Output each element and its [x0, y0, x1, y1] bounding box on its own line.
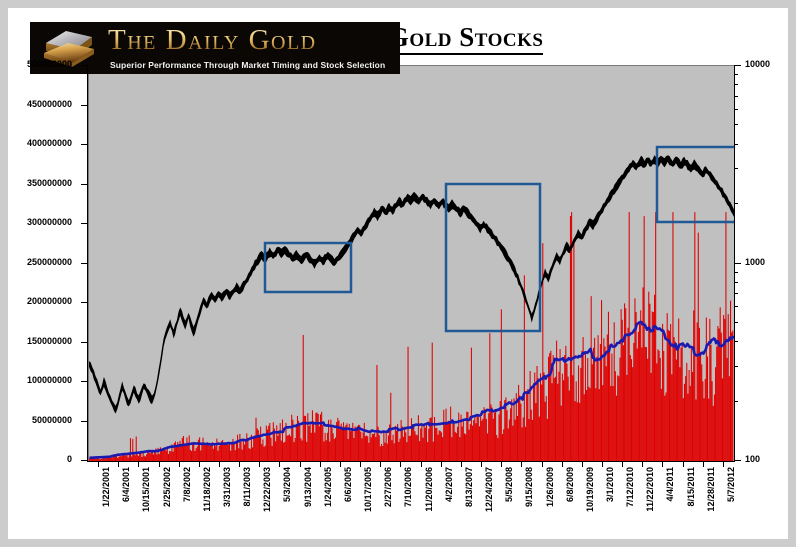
- left-axis-tick-label: 150000000: [27, 337, 72, 346]
- x-axis-tick-label: 3/31/2003: [223, 467, 232, 507]
- logo-tagline: Superior Performance Through Market Timi…: [110, 60, 385, 70]
- x-axis-tick: [340, 461, 341, 467]
- left-axis-tick-label: 300000000: [27, 218, 72, 227]
- right-axis-tick: [735, 460, 741, 461]
- x-axis-tick-label: 5/5/2008: [505, 467, 514, 502]
- left-axis-tick: [81, 184, 87, 185]
- x-axis-tick-label: 8/15/2011: [687, 467, 696, 507]
- x-axis-tick: [98, 461, 99, 467]
- right-axis-minor-tick: [735, 74, 738, 75]
- right-axis-minor-tick: [735, 322, 738, 323]
- left-axis-tick: [81, 105, 87, 106]
- chart-canvas: [89, 66, 734, 461]
- left-axis-tick-label: 50000000: [32, 416, 72, 425]
- left-axis-tick: [81, 421, 87, 422]
- right-axis-tick-label: 100: [745, 455, 760, 464]
- x-axis-tick: [118, 461, 119, 467]
- x-axis-tick-label: 7/12/2010: [626, 467, 635, 507]
- x-axis-tick-label: 6/6/2005: [344, 467, 353, 502]
- x-axis-tick-label: 1/24/2005: [324, 467, 333, 507]
- bottom-axis-line: [87, 461, 735, 462]
- left-axis-tick: [81, 460, 87, 461]
- left-axis-tick-label: 100000000: [27, 376, 72, 385]
- x-axis-tick-label: 9/15/2008: [525, 467, 534, 507]
- x-axis-tick: [481, 461, 482, 467]
- x-axis-tick-label: 6/8/2009: [566, 467, 575, 502]
- x-axis-tick: [602, 461, 603, 467]
- left-axis-tick-label: 0: [67, 455, 72, 464]
- right-axis-minor-tick: [735, 203, 738, 204]
- chart-page: Small Cap Gold Stocks: [8, 8, 788, 539]
- x-axis-tick-label: 4/2/2007: [445, 467, 454, 502]
- consolidation-box-2: [446, 184, 540, 331]
- left-axis-tick: [81, 223, 87, 224]
- volume-bar: [89, 212, 733, 461]
- x-axis-tick: [501, 461, 502, 467]
- x-axis-tick-label: 5/7/2012: [727, 467, 736, 502]
- x-axis-tick-label: 7/10/2006: [404, 467, 413, 507]
- x-axis-tick-label: 12/24/2007: [485, 467, 494, 512]
- x-axis-tick-label: 1/26/2009: [546, 467, 555, 507]
- x-axis-tick: [400, 461, 401, 467]
- x-axis-tick-label: 3/1/2010: [606, 467, 615, 502]
- x-axis-tick-label: 9/13/2004: [304, 467, 313, 507]
- x-axis-tick: [279, 461, 280, 467]
- x-axis-tick: [360, 461, 361, 467]
- left-axis-tick-label: 500000000: [27, 60, 72, 69]
- x-axis-tick-label: 1/22/2001: [102, 467, 111, 507]
- right-axis-tick: [735, 263, 741, 264]
- x-axis-tick: [542, 461, 543, 467]
- x-axis-tick: [219, 461, 220, 467]
- daily-gold-logo: The Daily Gold Superior Performance Thro…: [30, 22, 400, 74]
- x-axis-tick: [441, 461, 442, 467]
- x-axis-tick-label: 2/25/2002: [163, 467, 172, 507]
- left-axis-tick-label: 250000000: [27, 258, 72, 267]
- right-axis-minor-tick: [735, 272, 738, 273]
- right-axis-minor-tick: [735, 366, 738, 367]
- x-axis-tick-label: 6/4/2001: [122, 467, 131, 502]
- x-axis-tick: [622, 461, 623, 467]
- x-axis-tick-label: 2/27/2006: [384, 467, 393, 507]
- x-axis-tick-label: 10/19/2009: [586, 467, 595, 512]
- x-axis-tick: [179, 461, 180, 467]
- x-axis-tick: [642, 461, 643, 467]
- right-axis-tick-label: 1000: [745, 258, 765, 267]
- x-axis-tick-label: 11/22/2010: [646, 467, 655, 512]
- right-axis-minor-tick: [735, 96, 738, 97]
- x-axis-tick-label: 10/17/2005: [364, 467, 373, 512]
- x-axis-tick-label: 5/3/2004: [283, 467, 292, 502]
- left-axis-tick: [81, 342, 87, 343]
- left-axis-tick-label: 400000000: [27, 139, 72, 148]
- x-axis-tick-label: 10/15/2001: [142, 467, 151, 512]
- x-axis-tick: [562, 461, 563, 467]
- x-axis-tick-label: 8/13/2007: [465, 467, 474, 507]
- left-axis-tick-label: 200000000: [27, 297, 72, 306]
- plot-area: [88, 65, 735, 462]
- volume-bars-group: [89, 212, 733, 461]
- left-axis-tick-label: 450000000: [27, 100, 72, 109]
- left-axis-tick: [81, 263, 87, 264]
- x-axis-tick: [259, 461, 260, 467]
- x-axis-tick-label: 4/4/2011: [666, 467, 675, 502]
- x-axis-tick: [582, 461, 583, 467]
- right-axis-minor-tick: [735, 306, 738, 307]
- right-axis-minor-tick: [735, 401, 738, 402]
- annotation-boxes-group: [265, 147, 734, 331]
- x-axis-tick: [320, 461, 321, 467]
- right-axis-minor-tick: [735, 84, 738, 85]
- x-axis-tick: [723, 461, 724, 467]
- x-axis-tick: [300, 461, 301, 467]
- left-axis-tick: [81, 65, 87, 66]
- right-axis-tick-label: 10000: [745, 60, 770, 69]
- right-axis-tick: [735, 65, 741, 66]
- x-axis-tick-label: 12/28/2011: [707, 467, 716, 512]
- left-axis-tick: [81, 302, 87, 303]
- x-axis-tick: [662, 461, 663, 467]
- right-axis-minor-tick: [735, 293, 738, 294]
- x-axis-tick-label: 7/8/2002: [183, 467, 192, 502]
- x-axis-tick: [421, 461, 422, 467]
- x-axis-tick-label: 8/11/2003: [243, 467, 252, 507]
- right-axis-minor-tick: [735, 341, 738, 342]
- right-axis-minor-tick: [735, 168, 738, 169]
- left-axis-tick: [81, 381, 87, 382]
- x-axis-tick-label: 12/22/2003: [263, 467, 272, 512]
- left-axis-tick: [81, 144, 87, 145]
- logo-title: The Daily Gold: [108, 24, 317, 57]
- right-axis-minor-tick: [735, 282, 738, 283]
- x-axis-tick: [380, 461, 381, 467]
- right-axis-minor-tick: [735, 109, 738, 110]
- x-axis-tick: [521, 461, 522, 467]
- x-axis-tick: [159, 461, 160, 467]
- x-axis-tick-label: 11/20/2006: [425, 467, 434, 512]
- x-axis-tick: [461, 461, 462, 467]
- x-axis-tick: [683, 461, 684, 467]
- x-axis-tick-label: 11/18/2002: [203, 467, 212, 512]
- right-axis-minor-tick: [735, 144, 738, 145]
- x-axis-tick: [138, 461, 139, 467]
- x-axis-tick: [703, 461, 704, 467]
- left-axis-tick-label: 350000000: [27, 179, 72, 188]
- right-axis-minor-tick: [735, 124, 738, 125]
- x-axis-tick: [199, 461, 200, 467]
- left-axis-line: [87, 65, 88, 462]
- x-axis-tick: [239, 461, 240, 467]
